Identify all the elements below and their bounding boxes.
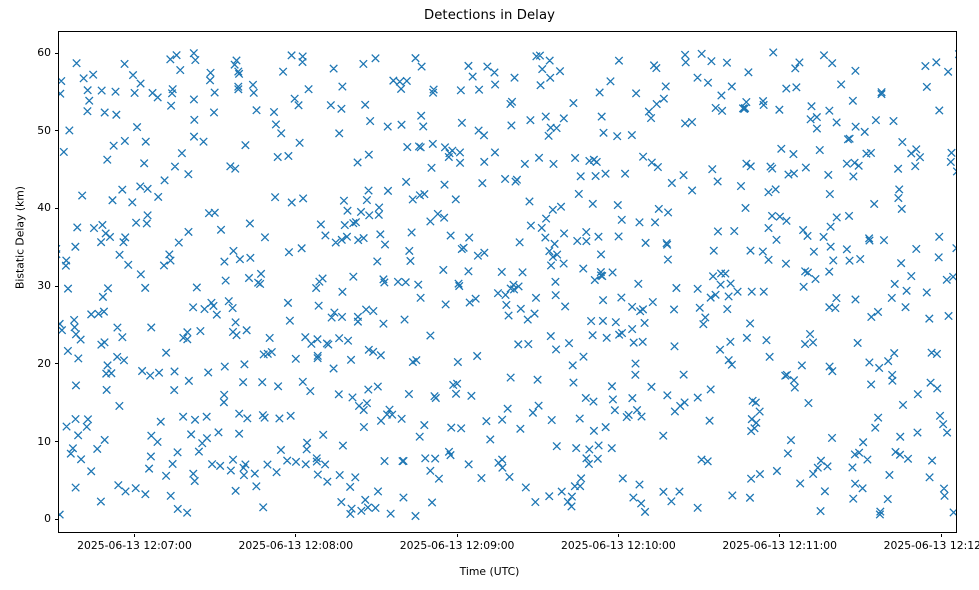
y-tick-label: 60: [11, 47, 51, 58]
x-tick-mark: [134, 534, 135, 538]
scatter-markers: [59, 49, 956, 520]
x-tick-label: 2025-06-13 12:09:00: [400, 539, 515, 552]
y-tick-mark: [55, 208, 59, 209]
x-tick-label: 2025-06-13 12:10:00: [561, 539, 676, 552]
y-tick-label: 30: [11, 280, 51, 291]
y-tick-mark: [55, 53, 59, 54]
x-tick-mark: [295, 534, 296, 538]
y-tick-label: 10: [11, 436, 51, 447]
x-tick-label: 2025-06-13 12:08:00: [238, 539, 353, 552]
y-tick-label: 50: [11, 125, 51, 136]
y-tick-label: 40: [11, 202, 51, 213]
y-tick-mark: [55, 441, 59, 442]
x-axis-label: Time (UTC): [0, 565, 979, 578]
x-tick-label: 2025-06-13 12:11:00: [722, 539, 837, 552]
y-tick-label-group: 0102030405060: [10, 0, 51, 590]
x-tick-mark: [618, 534, 619, 538]
x-tick-label-group: 2025-06-13 12:07:002025-06-13 12:08:0020…: [0, 539, 979, 555]
scatter-series-detections: [59, 32, 956, 532]
y-tick-mark: [55, 363, 59, 364]
x-tick-mark: [457, 534, 458, 538]
x-tick-label: 2025-06-13 12:07:00: [77, 539, 192, 552]
x-tick-label: 2025-06-13 12:12:00: [884, 539, 979, 552]
page-title: Detections in Delay: [0, 8, 979, 24]
x-tick-mark: [941, 534, 942, 538]
plot-area: [58, 31, 957, 533]
y-tick-label: 0: [11, 513, 51, 524]
matplotlib-figure: Detections in Delay Bistatic Delay (km) …: [0, 0, 979, 590]
x-tick-mark: [779, 534, 780, 538]
y-tick-mark: [55, 286, 59, 287]
y-tick-label: 20: [11, 358, 51, 369]
y-tick-mark: [55, 130, 59, 131]
y-tick-mark: [55, 519, 59, 520]
